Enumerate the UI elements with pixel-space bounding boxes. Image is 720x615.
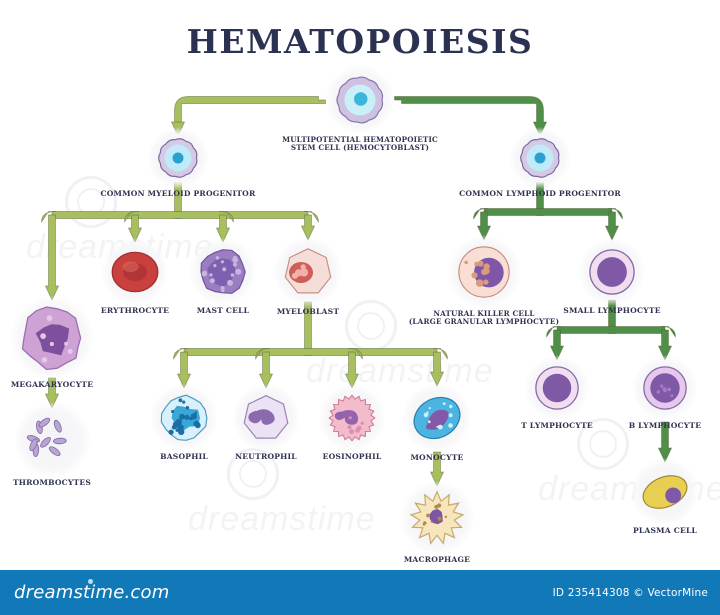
cell-illustration-thrombocytes — [16, 404, 88, 476]
cell-mast-cell — [191, 240, 255, 304]
diagram-canvas: dreamstimedreamstimedreamstimedreamstime… — [0, 0, 720, 615]
label-line: COMMON LYMPHOID PROGENITOR — [445, 190, 635, 199]
cell-illustration-monocyte — [404, 385, 470, 451]
arrow-myeloblast-bus-branch — [178, 352, 191, 388]
label-small-lymphocyte: SMALL LYMPHOCYTE — [517, 307, 707, 316]
cell-lymphoid — [511, 129, 569, 187]
cell-illustration-small-lymphocyte — [580, 240, 644, 304]
cell-illustration-nk-cell — [449, 237, 519, 307]
label-line: PLASMA CELL — [570, 527, 720, 536]
cell-illustration-b-lymphocyte — [634, 357, 696, 419]
label-macrophage: MACROPHAGE — [342, 556, 532, 565]
label-thrombocytes: THROMBOCYTES — [0, 479, 147, 488]
label-stem-cell: MULTIPOTENTIAL HEMATOPOIETICSTEM CELL (H… — [265, 136, 455, 153]
label-line: MEGAKARYOCYTE — [0, 381, 147, 390]
arrow-myeloblast-bus-branch — [260, 352, 273, 388]
cell-illustration-t-lymphocyte — [526, 357, 588, 419]
cell-illustration-stem-cell — [327, 67, 393, 133]
cell-neutrophil — [234, 386, 298, 450]
dreamstime-logo-dot — [88, 579, 93, 584]
cell-small-lymphocyte — [580, 240, 644, 304]
cell-t-lymphocyte — [526, 357, 588, 419]
image-credit: ID 235414308 © VectorMine — [553, 587, 708, 599]
cell-plasma-cell — [633, 460, 697, 524]
label-megakaryocyte: MEGAKARYOCYTE — [0, 381, 147, 390]
arrow-lymphoid-bus-bar — [484, 209, 612, 216]
cell-eosinophil — [320, 386, 384, 450]
label-line: MACROPHAGE — [342, 556, 532, 565]
label-line: SMALL LYMPHOCYTE — [517, 307, 707, 316]
label-line: STEM CELL (HEMOCYTOBLAST) — [265, 144, 455, 152]
cell-macrophage — [402, 483, 472, 553]
cell-b-lymphocyte — [634, 357, 696, 419]
arrow-myeloblast-bus-bar — [184, 349, 437, 356]
label-line: MYELOBLAST — [213, 308, 403, 317]
cell-myeloblast — [275, 239, 341, 305]
cell-basophil — [152, 386, 216, 450]
cell-thrombocytes — [16, 404, 88, 476]
arrow-lymphoid-bus-branch — [606, 212, 619, 240]
label-lymphoid: COMMON LYMPHOID PROGENITOR — [445, 190, 635, 199]
arrow-myeloid-bus-branch — [46, 215, 59, 300]
cell-myeloid — [149, 129, 207, 187]
cell-illustration-lymphoid — [511, 129, 569, 187]
label-line: THROMBOCYTES — [0, 479, 147, 488]
label-line: MONOCYTE — [342, 454, 532, 463]
label-myeloid: COMMON MYELOID PROGENITOR — [83, 190, 273, 199]
cell-illustration-neutrophil — [234, 386, 298, 450]
dreamstime-logo: dreamstime.com — [14, 582, 169, 603]
cell-illustration-myeloid — [149, 129, 207, 187]
cell-illustration-eosinophil — [320, 386, 384, 450]
cell-erythrocyte — [103, 240, 167, 304]
label-myeloblast: MYELOBLAST — [213, 308, 403, 317]
arrow-myeloblast-bus-branch — [346, 352, 359, 388]
cell-illustration-mast-cell — [191, 240, 255, 304]
arrow-myeloid-bus-bar — [52, 212, 308, 219]
cell-stem-cell — [327, 67, 393, 133]
cell-nk-cell — [449, 237, 519, 307]
cell-illustration-plasma-cell — [633, 460, 697, 524]
cell-illustration-basophil — [152, 386, 216, 450]
label-line: B LYMPHOCYTE — [570, 422, 720, 431]
label-line: COMMON MYELOID PROGENITOR — [83, 190, 273, 199]
label-plasma-cell: PLASMA CELL — [570, 527, 720, 536]
cell-monocyte — [404, 385, 470, 451]
arrow-myeloblast-bus-branch — [431, 352, 444, 386]
cell-illustration-erythrocyte — [103, 240, 167, 304]
label-monocyte: MONOCYTE — [342, 454, 532, 463]
cell-illustration-macrophage — [402, 483, 472, 553]
footer-bar: dreamstime.com ID 235414308 © VectorMine — [0, 570, 720, 615]
label-b-lymphocyte: B LYMPHOCYTE — [570, 422, 720, 431]
arrow-lymphocyte-bus-bar — [557, 327, 665, 334]
cell-illustration-myeloblast — [275, 239, 341, 305]
label-line: (LARGE GRANULAR LYMPHOCYTE) — [389, 318, 579, 326]
